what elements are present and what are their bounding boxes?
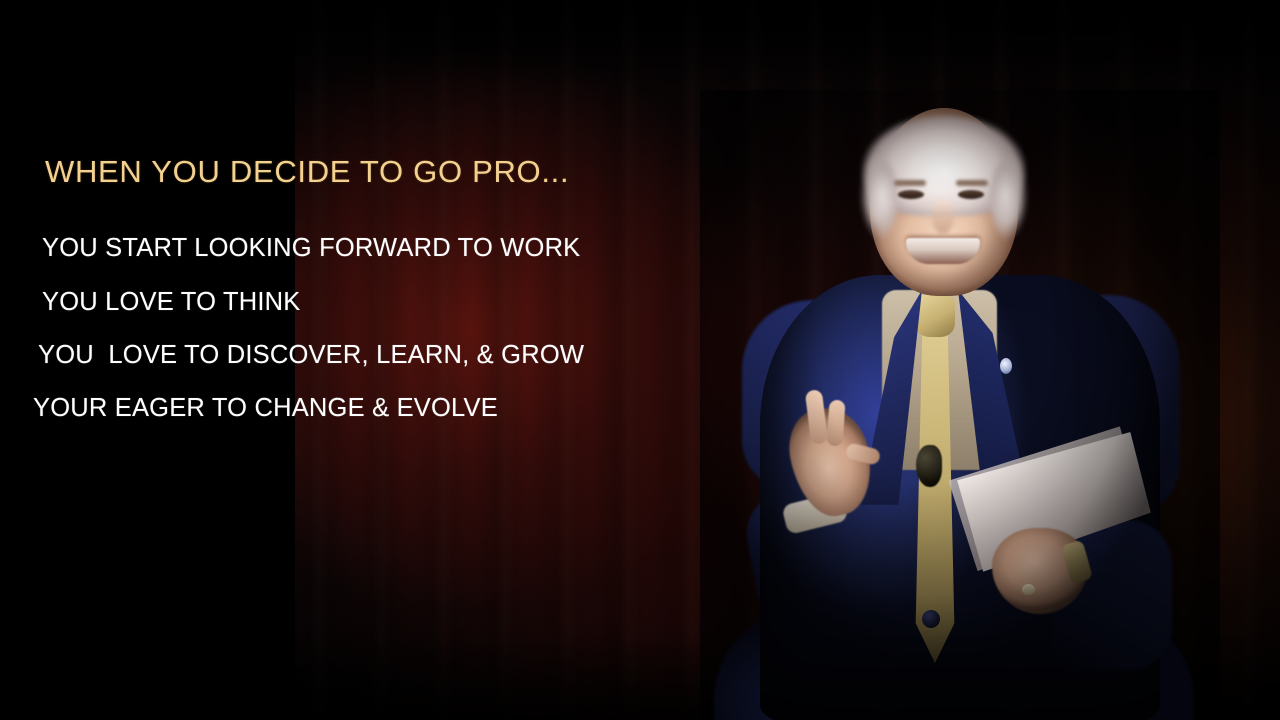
slide-text-overlay: WHEN YOU DECIDE TO GO PRO... YOU START L… [0,0,1280,720]
slide-title: WHEN YOU DECIDE TO GO PRO... [45,154,569,190]
slide-bullet-1: YOU START LOOKING FORWARD TO WORK [42,234,580,263]
slide-bullet-2: YOU LOVE TO THINK [42,288,300,317]
video-frame: WHEN YOU DECIDE TO GO PRO... YOU START L… [0,0,1280,720]
slide-bullet-4: YOUR EAGER TO CHANGE & EVOLVE [33,394,498,423]
slide-bullet-3: YOU LOVE TO DISCOVER, LEARN, & GROW [38,341,584,370]
